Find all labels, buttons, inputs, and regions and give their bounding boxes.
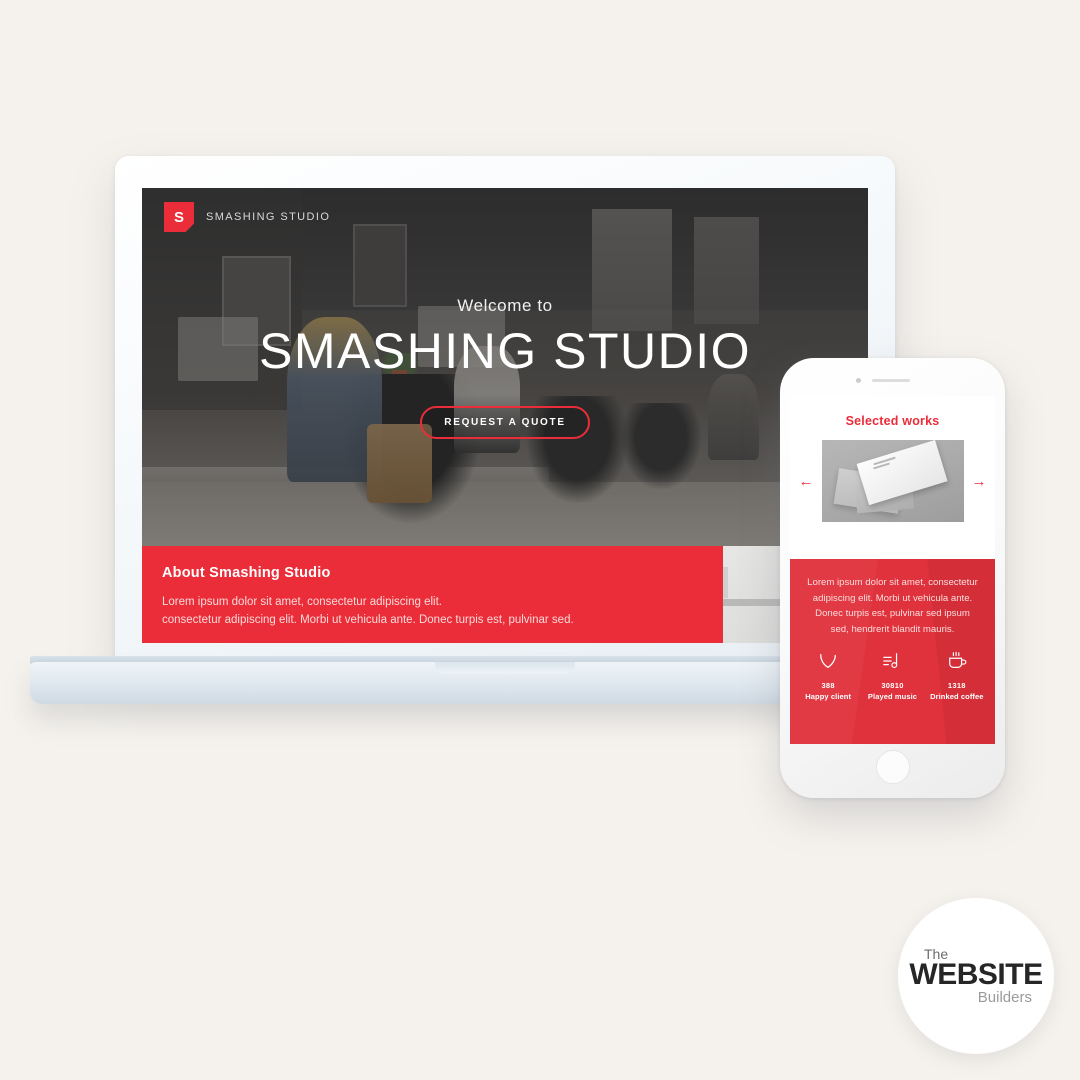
about-section: About Smashing Studio Lorem ipsum dolor … bbox=[142, 546, 868, 643]
earpiece-speaker bbox=[872, 379, 910, 382]
scene-canvas: S SMASHING STUDIO Welcome to SMASHING ST… bbox=[0, 0, 1080, 1080]
phone-screen: Selected works ← → Lorem ipsum dolor sit… bbox=[790, 396, 995, 744]
phone-mockup: Selected works ← → Lorem ipsum dolor sit… bbox=[780, 358, 1005, 798]
stats-row: 388 Happy client 30810 Played music bbox=[790, 637, 995, 701]
stat-number: 30810 bbox=[860, 681, 924, 690]
request-a-quote-button[interactable]: REQUEST A QUOTE bbox=[420, 406, 589, 439]
music-note-icon bbox=[860, 650, 924, 672]
about-red-band: About Smashing Studio Lorem ipsum dolor … bbox=[142, 546, 723, 643]
stat-label: Happy client bbox=[796, 692, 860, 701]
hero-title: SMASHING STUDIO bbox=[259, 322, 751, 380]
stat-number: 388 bbox=[796, 681, 860, 690]
badge-main-text: WEBSITE bbox=[909, 958, 1042, 992]
phone-paragraph: Lorem ipsum dolor sit amet, consectetur … bbox=[790, 559, 995, 637]
stat-number: 1318 bbox=[925, 681, 989, 690]
laptop-screen: S SMASHING STUDIO Welcome to SMASHING ST… bbox=[142, 188, 868, 643]
selected-works-title: Selected works bbox=[790, 396, 995, 440]
front-camera-icon bbox=[856, 378, 861, 383]
website-builders-logo: The WEBSITE Builders bbox=[898, 898, 1054, 1054]
phone-red-section: Lorem ipsum dolor sit amet, consectetur … bbox=[790, 559, 995, 744]
hero-eyebrow: Welcome to bbox=[457, 296, 552, 316]
about-line-2: consectetur adipiscing elit. Morbi ut ve… bbox=[162, 612, 574, 630]
coffee-cup-icon bbox=[925, 650, 989, 672]
stat-item: 30810 Played music bbox=[860, 650, 924, 701]
works-carousel: ← → bbox=[790, 440, 995, 522]
stat-item: 388 Happy client bbox=[796, 650, 860, 701]
about-paragraph: Lorem ipsum dolor sit amet, consectetur … bbox=[162, 594, 574, 630]
stat-label: Played music bbox=[860, 692, 924, 701]
stat-label: Drinked coffee bbox=[925, 692, 989, 701]
hero-content: Welcome to SMASHING STUDIO REQUEST A QUO… bbox=[142, 188, 868, 546]
about-heading: About Smashing Studio bbox=[162, 565, 331, 581]
hero-section: S SMASHING STUDIO Welcome to SMASHING ST… bbox=[142, 188, 868, 546]
home-button[interactable] bbox=[876, 750, 910, 784]
heart-icon bbox=[796, 650, 860, 672]
work-thumbnail[interactable] bbox=[822, 440, 964, 522]
about-line-1: Lorem ipsum dolor sit amet, consectetur … bbox=[162, 594, 574, 612]
carousel-prev-arrow-icon[interactable]: ← bbox=[799, 474, 814, 489]
carousel-next-arrow-icon[interactable]: → bbox=[972, 474, 987, 489]
laptop-mockup: S SMASHING STUDIO Welcome to SMASHING ST… bbox=[115, 156, 895, 666]
stat-item: 1318 Drinked coffee bbox=[925, 650, 989, 701]
badge-bottom-text: Builders bbox=[978, 989, 1032, 1006]
